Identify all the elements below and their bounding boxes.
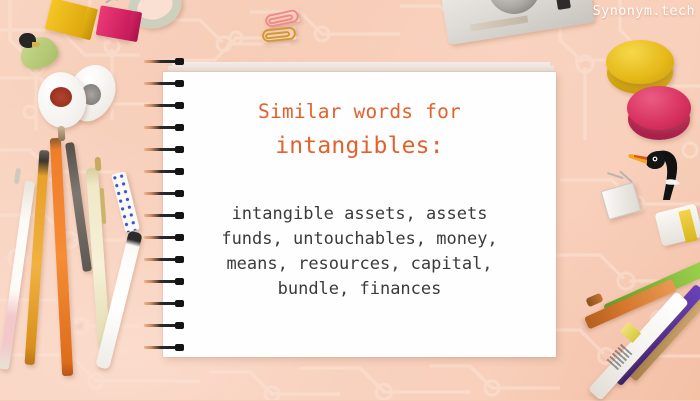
synonym-line: funds, untouchables, money,	[193, 227, 526, 252]
bird-figurine-beak	[32, 42, 40, 47]
macaron-yellow	[606, 40, 674, 84]
synonym-list: intangible assets, assets funds, untouch…	[163, 202, 556, 302]
macaron-pink	[627, 86, 691, 130]
pencil-orange-tip	[58, 126, 66, 141]
synonym-line: intangible assets, assets	[193, 202, 526, 227]
synonym-line: means, resources, capital,	[193, 252, 526, 277]
binder-clip-pink	[96, 5, 135, 40]
card-heading-query-word: intangibles:	[163, 133, 556, 159]
pen-cream-tip	[95, 157, 102, 171]
synonym-line: bundle, finances	[193, 277, 526, 302]
brand-logo[interactable]: Synonym.tech	[593, 3, 695, 19]
synonym-card: Similar words for intangibles: intangibl…	[163, 72, 556, 357]
eraser-stamp-red	[50, 87, 72, 107]
card-heading-line1: Similar words for	[163, 100, 556, 123]
